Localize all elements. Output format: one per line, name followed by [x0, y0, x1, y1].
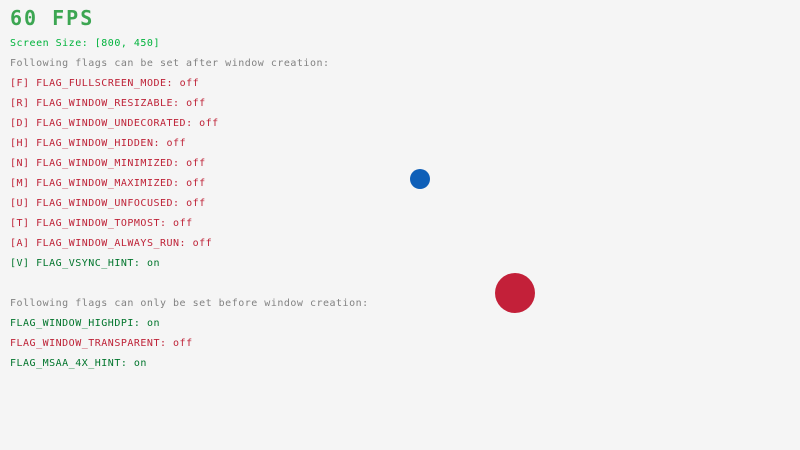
flag-value: on	[147, 318, 160, 329]
flag-value: off	[186, 198, 206, 209]
flag-row: FLAG_WINDOW_HIGHDPI: on	[10, 319, 160, 329]
flag-row[interactable]: [T] FLAG_WINDOW_TOPMOST: off	[10, 219, 193, 229]
flag-value: off	[193, 238, 213, 249]
flag-row[interactable]: [V] FLAG_VSYNC_HINT: on	[10, 259, 160, 269]
flag-name: FLAG_WINDOW_MAXIMIZED:	[36, 178, 179, 189]
flag-value: off	[186, 178, 206, 189]
creation-flags-heading: Following flags can only be set before w…	[10, 299, 369, 309]
flag-shortcut-key: [D]	[10, 118, 30, 129]
flag-value: off	[186, 98, 206, 109]
flag-name: FLAG_WINDOW_TRANSPARENT:	[10, 338, 167, 349]
flag-name: FLAG_WINDOW_MINIMIZED:	[36, 158, 179, 169]
flag-value: off	[186, 158, 206, 169]
flag-shortcut-key: [U]	[10, 198, 30, 209]
flag-shortcut-key: [R]	[10, 98, 30, 109]
flag-name: FLAG_WINDOW_ALWAYS_RUN:	[36, 238, 186, 249]
flag-row[interactable]: [R] FLAG_WINDOW_RESIZABLE: off	[10, 99, 206, 109]
flag-row[interactable]: [A] FLAG_WINDOW_ALWAYS_RUN: off	[10, 239, 212, 249]
flag-value: off	[173, 338, 193, 349]
flag-row[interactable]: [M] FLAG_WINDOW_MAXIMIZED: off	[10, 179, 206, 189]
flag-value: on	[147, 258, 160, 269]
flag-value: off	[199, 118, 219, 129]
screen-size-label: Screen Size: [800, 450]	[10, 39, 160, 49]
flag-value: off	[167, 138, 187, 149]
fps-counter: 60 FPS	[10, 8, 94, 28]
flag-name: FLAG_WINDOW_UNDECORATED:	[36, 118, 193, 129]
flag-name: FLAG_WINDOW_HIGHDPI:	[10, 318, 140, 329]
flag-shortcut-key: [T]	[10, 218, 30, 229]
flag-shortcut-key: [A]	[10, 238, 30, 249]
flag-row[interactable]: [F] FLAG_FULLSCREEN_MODE: off	[10, 79, 199, 89]
flag-row[interactable]: [N] FLAG_WINDOW_MINIMIZED: off	[10, 159, 206, 169]
red-ball-icon	[495, 273, 535, 313]
flag-shortcut-key: [F]	[10, 78, 30, 89]
flag-name: FLAG_WINDOW_TOPMOST:	[36, 218, 166, 229]
flag-name: FLAG_VSYNC_HINT:	[36, 258, 140, 269]
flag-name: FLAG_WINDOW_UNFOCUSED:	[36, 198, 179, 209]
flag-name: FLAG_FULLSCREEN_MODE:	[36, 78, 173, 89]
flag-row[interactable]: [U] FLAG_WINDOW_UNFOCUSED: off	[10, 199, 206, 209]
flag-name: FLAG_WINDOW_RESIZABLE:	[36, 98, 179, 109]
raylib-window-canvas: 60 FPS Screen Size: [800, 450] Following…	[0, 0, 800, 450]
flag-shortcut-key: [V]	[10, 258, 30, 269]
flag-name: FLAG_WINDOW_HIDDEN:	[36, 138, 160, 149]
flag-shortcut-key: [H]	[10, 138, 30, 149]
flag-shortcut-key: [M]	[10, 178, 30, 189]
flag-row[interactable]: [D] FLAG_WINDOW_UNDECORATED: off	[10, 119, 219, 129]
flag-shortcut-key: [N]	[10, 158, 30, 169]
runtime-flags-heading: Following flags can be set after window …	[10, 59, 330, 69]
flag-value: off	[173, 218, 193, 229]
blue-ball-icon	[410, 169, 430, 189]
flag-row: FLAG_WINDOW_TRANSPARENT: off	[10, 339, 193, 349]
flag-value: off	[180, 78, 200, 89]
flag-row[interactable]: [H] FLAG_WINDOW_HIDDEN: off	[10, 139, 186, 149]
flag-value: on	[134, 358, 147, 369]
flag-row: FLAG_MSAA_4X_HINT: on	[10, 359, 147, 369]
flag-name: FLAG_MSAA_4X_HINT:	[10, 358, 127, 369]
